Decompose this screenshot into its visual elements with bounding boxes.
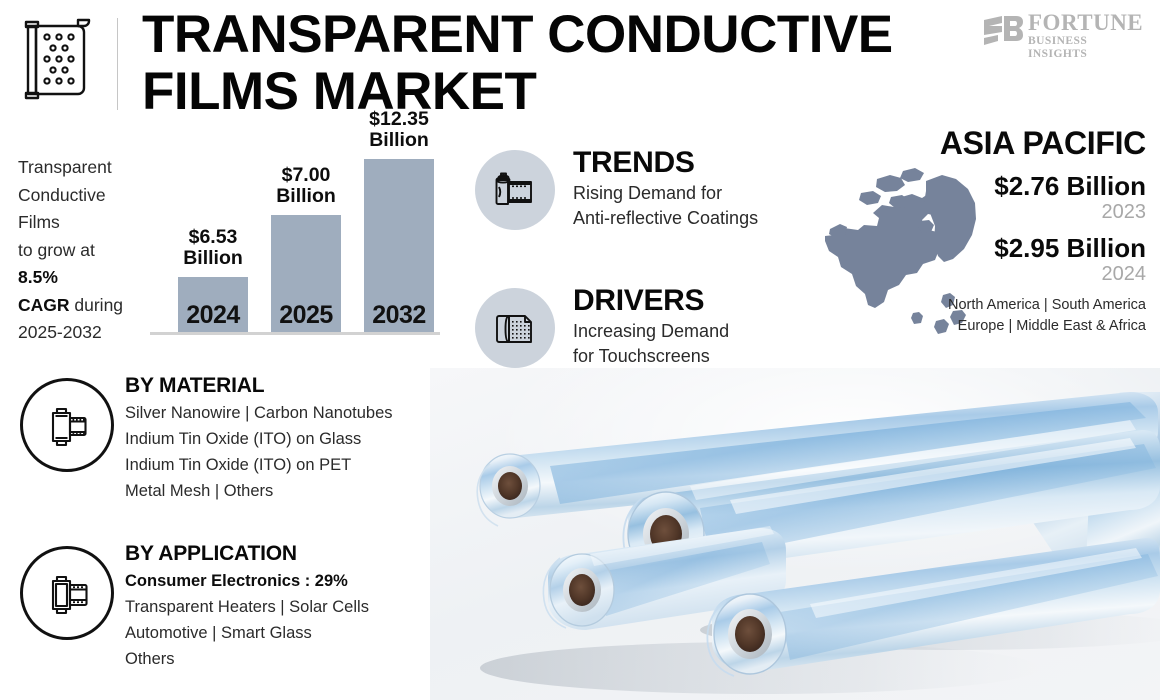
infographic-page: TRANSPARENT CONDUCTIVE FILMS MARKET FORT… [0,0,1160,700]
film-rolls-illustration [430,368,1160,700]
bar-plot-area: $6.53 Billion 2024 $7.00 Billion 2025 $1… [150,140,445,345]
chart-caption: Transparent Conductive Films to grow at … [18,154,138,347]
segment-by-application-body: BY APPLICATION Consumer Electronics : 29… [125,540,445,672]
segment-title-application: BY APPLICATION [125,540,445,568]
perforated-film-icon [475,288,555,368]
region-list-line1: North America | South America [948,297,1146,313]
highlight-desc-drivers-line2: for Touchscreens [573,344,823,369]
segment-material-line-3: Indium Tin Oxide (ITO) on PET [125,452,445,478]
product-photo [430,368,1160,700]
logo-sub-text: BUSINESS INSIGHTS [1028,35,1148,61]
bar-value-label-2025: $7.00 Billion [261,165,351,207]
segment-application-line-2: Transparent Heaters | Solar Cells [125,594,445,620]
highlight-desc-trends-line2: Anti-reflective Coatings [573,206,823,231]
highlight-trends-body: TRENDS Rising Demand for Anti-reflective… [573,145,823,231]
segment-title-material: BY MATERIAL [125,372,445,400]
highlight-title-drivers: DRIVERS [573,283,823,319]
fbi-logo-mark-icon [982,14,1024,48]
bar-group-2024: $6.53 Billion 2024 [178,277,248,332]
header: TRANSPARENT CONDUCTIVE FILMS MARKET FORT… [0,0,1160,125]
brand-logo[interactable]: FORTUNE BUSINESS INSIGHTS [982,10,1148,54]
page-title: TRANSPARENT CONDUCTIVE FILMS MARKET [142,6,932,120]
film-canister-icon [475,150,555,230]
film-roll-icon [18,12,98,108]
region-value-2023: $2.76 Billion [994,171,1146,202]
cagr-during: during [70,295,124,315]
header-divider [117,18,118,110]
bar-group-2025: $7.00 Billion 2025 [271,215,341,332]
cagr-label: CAGR [18,295,70,315]
segment-by-material-body: BY MATERIAL Silver Nanowire | Carbon Nan… [125,372,445,504]
caption-line-1: Transparent [18,157,112,177]
highlight-desc-trends-line1: Rising Demand for [573,181,823,206]
bar-year-2024: 2024 [178,301,248,330]
bar-value-text-2032: $12.35 Billion [354,109,444,151]
film-strip-icon [20,546,114,640]
highlight-title-trends: TRENDS [573,145,823,181]
segment-application-line-4: Others [125,646,445,672]
logo-main-text: FORTUNE [1028,11,1148,35]
caption-line-3: Films [18,212,60,232]
region-value-2024: $2.95 Billion [994,233,1146,264]
highlight-drivers-body: DRIVERS Increasing Demand for Touchscree… [573,283,823,369]
segment-material-line-2: Indium Tin Oxide (ITO) on Glass [125,426,445,452]
bar-value-label-2032: $12.35 Billion [354,109,444,151]
region-year-2024: 2024 [1102,263,1147,286]
region-panel: ASIA PACIFIC $2.76 B [820,125,1160,350]
north-america-map-icon [825,163,1010,343]
cagr-period: 2025-2032 [18,322,102,342]
region-year-2023: 2023 [1102,201,1147,224]
caption-line-2: Conductive [18,185,106,205]
market-size-chart: Transparent Conductive Films to grow at … [0,140,445,355]
region-list-line2: Europe | Middle East & Africa [958,318,1146,334]
logo-text: FORTUNE BUSINESS INSIGHTS [1028,11,1148,61]
bar-value-text-2024: $6.53 Billion [168,227,258,269]
bar-group-2032: $12.35 Billion 2032 [364,159,434,332]
caption-line-4: to grow at [18,240,95,260]
cagr-value: 8.5% [18,267,58,287]
region-title: ASIA PACIFIC [940,125,1146,162]
highlight-trends: TRENDS Rising Demand for Anti-reflective… [470,145,820,283]
segment-application-line-1: Consumer Electronics : 29% [125,568,445,594]
chart-baseline [150,332,440,335]
film-cartridge-icon [20,378,114,472]
segment-application-line-3: Automotive | Smart Glass [125,620,445,646]
bar-value-label-2024: $6.53 Billion [168,227,258,269]
bar-year-2032: 2032 [364,301,434,330]
segment-material-line-4: Metal Mesh | Others [125,478,445,504]
highlight-desc-drivers-line1: Increasing Demand [573,319,823,344]
segment-material-line-1: Silver Nanowire | Carbon Nanotubes [125,400,445,426]
bar-value-text-2025: $7.00 Billion [261,165,351,207]
bar-year-2025: 2025 [271,301,341,330]
